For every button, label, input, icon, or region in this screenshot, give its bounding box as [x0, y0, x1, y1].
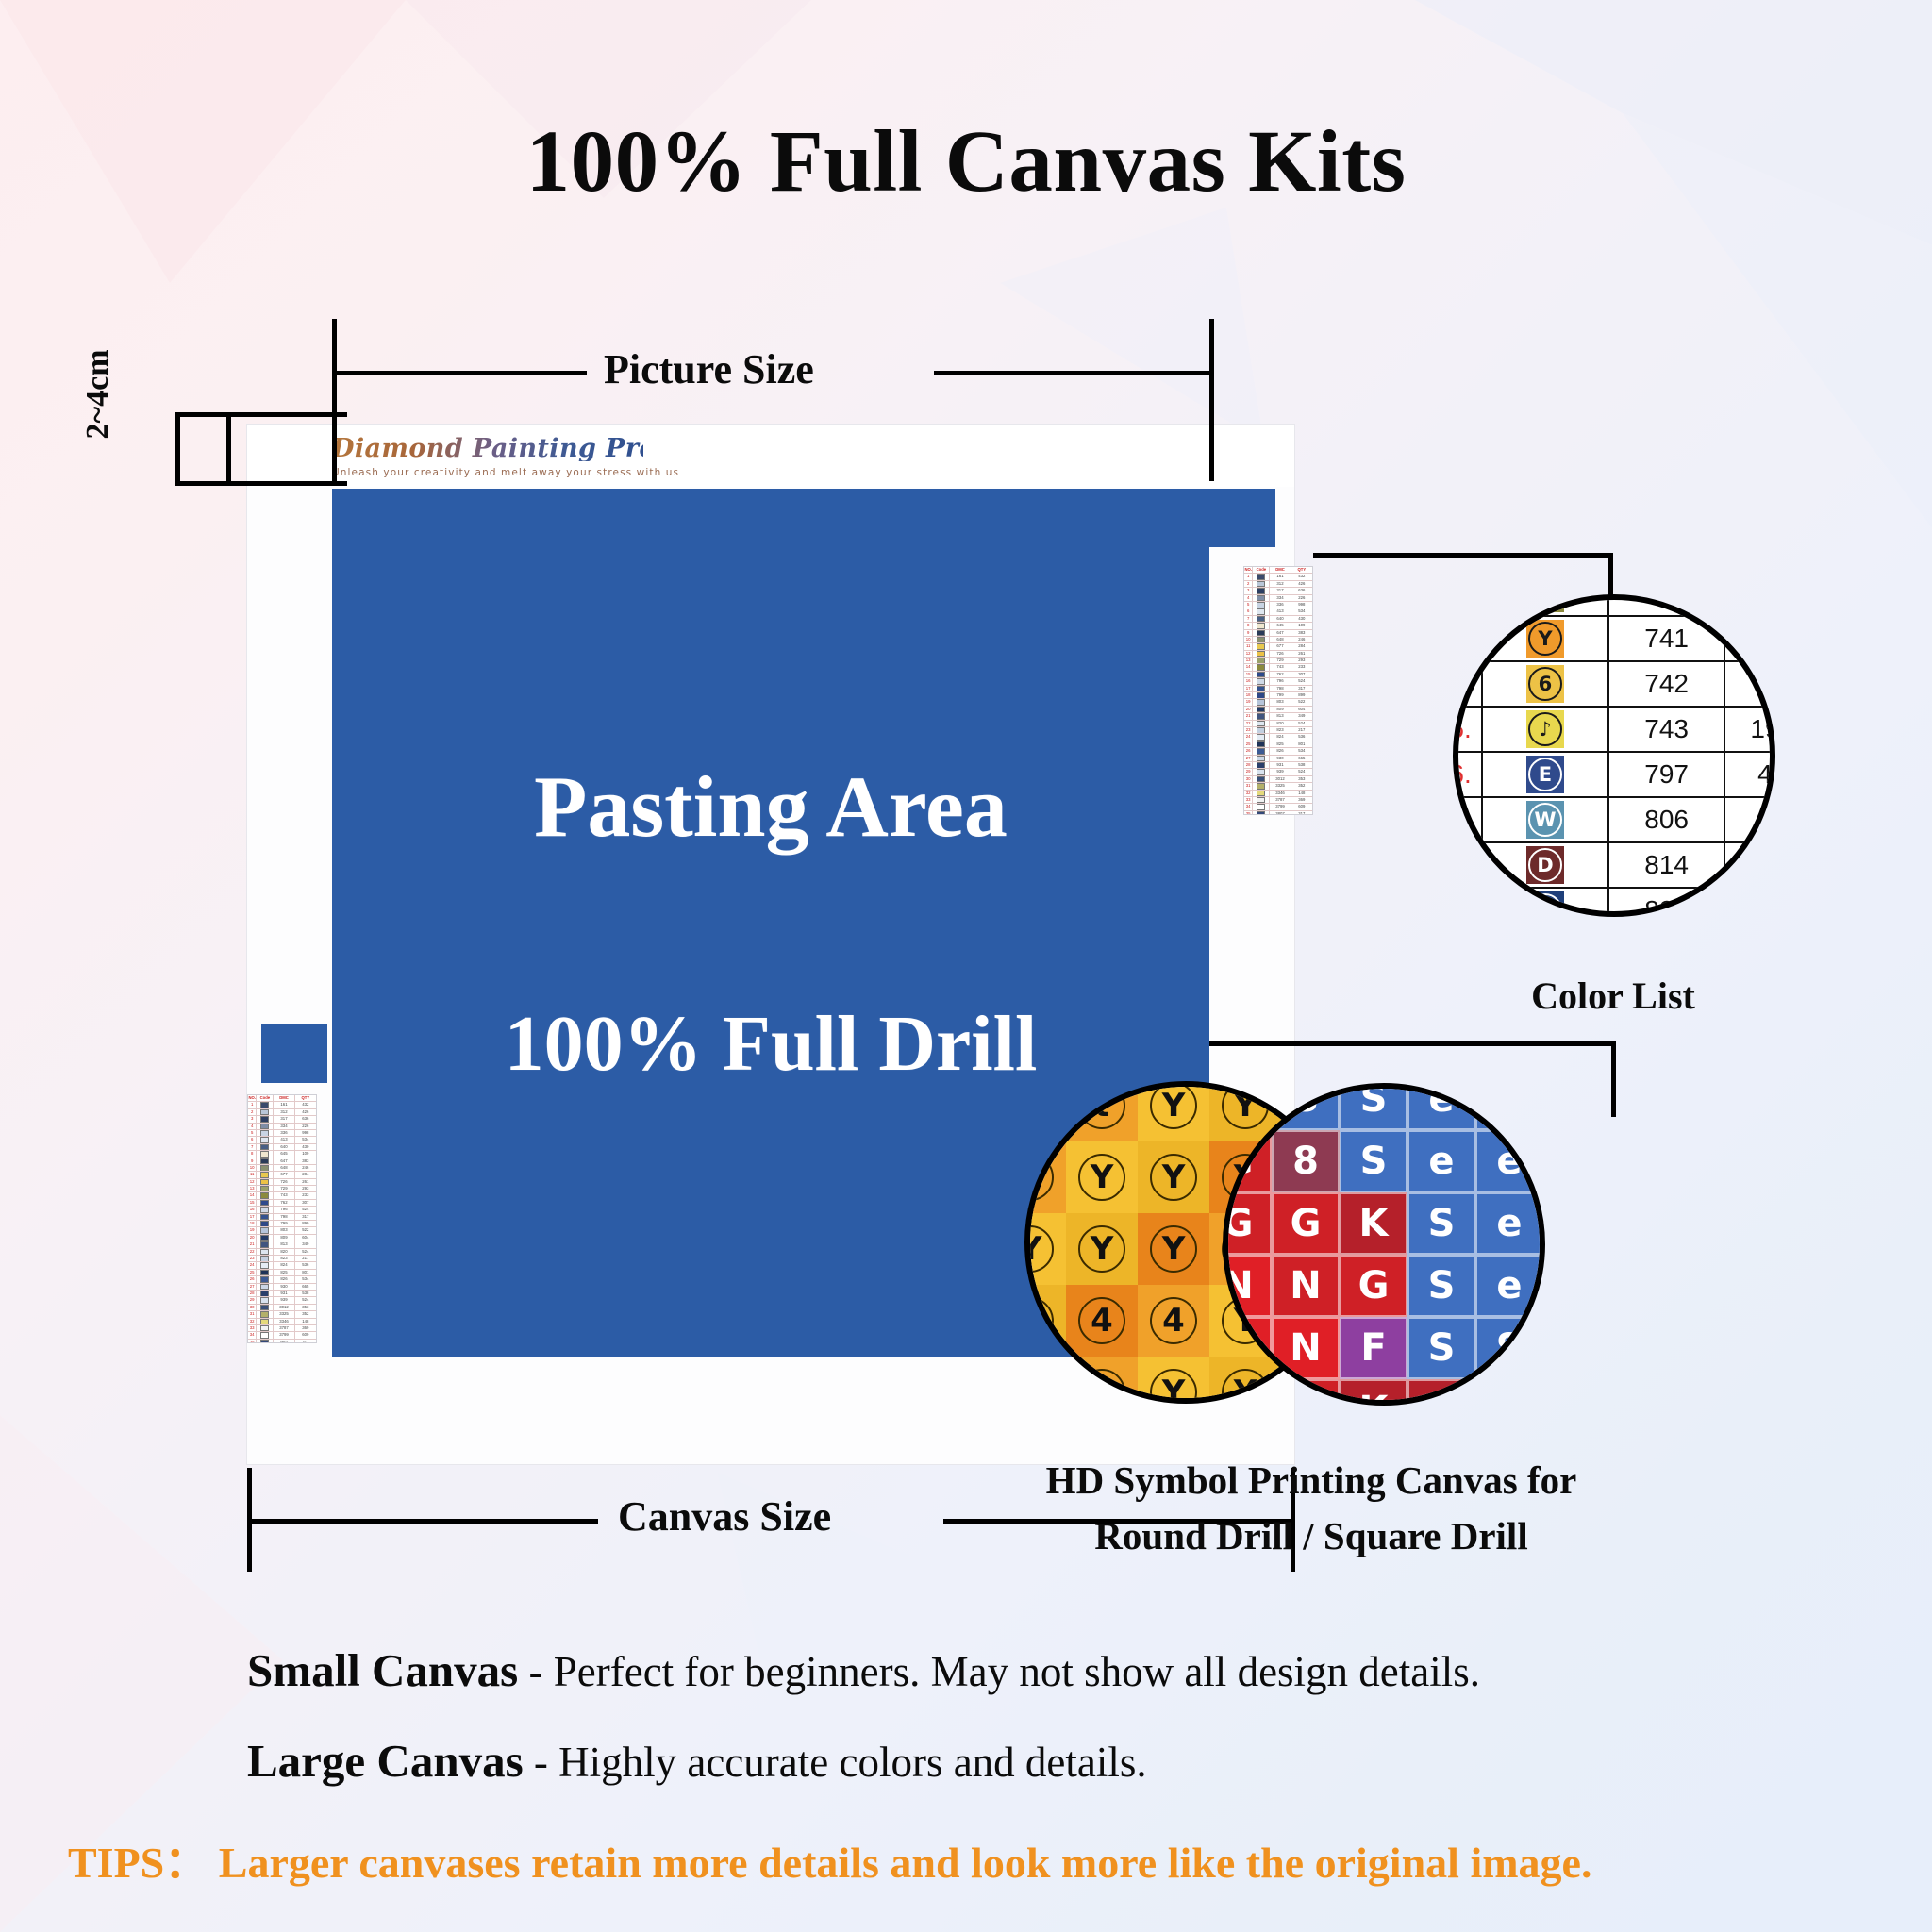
color-list-table: ★735Y741114.674224815.♪743192116.E797414… [1453, 594, 1775, 917]
strip-row: 8645109 [248, 1151, 316, 1158]
strip-row: 13729293 [248, 1186, 316, 1192]
picture-size-line-left [332, 371, 587, 375]
round-drill-cell: 4 [1066, 1357, 1138, 1404]
strip-cell-code [257, 1200, 274, 1206]
strip-cell-no: 34 [1244, 804, 1253, 809]
strip-header-dmc: DMC [274, 1095, 294, 1101]
color-list-row: 14.6742248 [1453, 662, 1775, 708]
strip-cell-dmc: 826 [1270, 748, 1291, 754]
strip-cell-qty: 636 [295, 1116, 316, 1122]
strip-cell-code [257, 1116, 274, 1122]
color-list-row: 18.D81440 [1453, 843, 1775, 889]
square-drill-cell: S [1407, 1255, 1475, 1317]
strip-row: 303012353 [248, 1305, 316, 1311]
strip-cell-no: 5 [248, 1130, 257, 1136]
strip-cell-code [1253, 623, 1270, 628]
strip-cell-qty: 349 [1291, 713, 1312, 719]
strip-cell-qty: 534 [1291, 608, 1312, 614]
strip-cell-code [1253, 699, 1270, 705]
strip-row: 6413534 [1244, 608, 1312, 615]
strip-cell-qty: 524 [1291, 769, 1312, 774]
square-drill-cell: 8 [1272, 1130, 1340, 1192]
strip-cell-no: 24 [1244, 734, 1253, 740]
strip-cell-code [1253, 686, 1270, 691]
strip-cell-code [1253, 637, 1270, 642]
color-list-row: a820 [1453, 889, 1775, 917]
round-drill-cell: Y [1024, 1285, 1066, 1357]
strip-cell-no: 8 [248, 1151, 257, 1157]
strip-cell-code [257, 1102, 274, 1108]
strip-cell-qty: 233 [295, 1192, 316, 1198]
strip-cell-dmc: 312 [274, 1109, 294, 1115]
strip-cell-dmc: 312 [1270, 581, 1291, 587]
strip-cell-no: 8 [1244, 623, 1253, 628]
strip-cell-no: 18 [1244, 692, 1253, 698]
strip-row: 19803522 [1244, 699, 1312, 706]
round-drill-cell: Y [1138, 1141, 1209, 1213]
square-drill-cell: e [1475, 1192, 1543, 1255]
strip-row: 12726261 [1244, 651, 1312, 658]
strip-cell-no: 4 [248, 1124, 257, 1129]
strip-cell-code [1253, 630, 1270, 636]
strip-cell-code [257, 1214, 274, 1220]
square-drill-cell: K [1407, 1379, 1475, 1406]
round-drill-cell: Y [1066, 1213, 1138, 1285]
strip-cell-no: 6 [1244, 608, 1253, 614]
strip-cell-code [257, 1256, 274, 1261]
strip-cell-qty: 261 [295, 1179, 316, 1185]
strip-cell-code [1253, 581, 1270, 587]
strip-row: 2312426 [248, 1109, 316, 1116]
strip-header-code: Code [257, 1095, 274, 1101]
strip-cell-no: 3 [248, 1116, 257, 1122]
strip-cell-qty: 538 [295, 1291, 316, 1296]
strip-cell-qty: 383 [1291, 630, 1312, 636]
strip-row: 8645109 [1244, 623, 1312, 629]
strip-cell-qty: 998 [1291, 602, 1312, 608]
strip-row: 313325352 [1244, 783, 1312, 790]
strip-cell-no: 21 [248, 1241, 257, 1247]
strip-cell-dmc: 334 [1270, 595, 1291, 601]
strip-cell-dmc: 931 [274, 1291, 294, 1296]
strip-cell-qty: 534 [295, 1276, 316, 1282]
strip-cell-no: 29 [1244, 769, 1253, 774]
strip-cell-code [1253, 721, 1270, 726]
picture-size-label: Picture Size [604, 345, 814, 393]
strip-cell-qty: 317 [1291, 811, 1312, 815]
infographic-stage: 100% Full Canvas Kits Diamond Painting P… [0, 0, 1932, 1932]
strip-cell-dmc: 799 [274, 1221, 294, 1226]
strip-header-dmc: DMC [1270, 567, 1291, 573]
strip-row: 26826534 [1244, 748, 1312, 755]
color-row-number [1453, 889, 1483, 917]
strip-cell-no: 32 [1244, 791, 1253, 796]
strip-cell-no: 35 [1244, 811, 1253, 815]
color-row-number: 15. [1453, 708, 1483, 751]
strip-cell-dmc: 3325 [274, 1311, 294, 1317]
picture-size-left-tick [332, 319, 337, 481]
strip-cell-code [257, 1221, 274, 1226]
square-drill-cell: e [1407, 1130, 1475, 1192]
strip-cell-no: 23 [248, 1256, 257, 1261]
strip-cell-qty: 534 [295, 1137, 316, 1142]
margin-line-bottom [175, 481, 347, 486]
color-list-row: 16.E797414 [1453, 753, 1775, 798]
strip-row: 29939524 [248, 1297, 316, 1304]
strip-cell-qty: 148 [295, 1319, 316, 1324]
strip-cell-dmc: 824 [1270, 734, 1291, 740]
square-drill-cell: F [1340, 1317, 1407, 1379]
square-drill-cell: G [1223, 1192, 1272, 1255]
strip-cell-code [257, 1192, 274, 1198]
strip-cell-dmc: 743 [1270, 664, 1291, 670]
strip-row: 10648246 [248, 1165, 316, 1172]
round-drill-cell: Y [1024, 1213, 1066, 1285]
strip-cell-code [257, 1158, 274, 1164]
round-drill-cell: t [1066, 1081, 1138, 1141]
square-drill-cell: K [1340, 1379, 1407, 1406]
round-drill-cell: 4 [1066, 1285, 1138, 1357]
color-list-row: Y7411 [1453, 617, 1775, 662]
square-drill-cell: K [1340, 1192, 1407, 1255]
strip-cell-dmc: 809 [274, 1235, 294, 1241]
strip-row: 1161432 [248, 1102, 316, 1108]
strip-row: 18799899 [1244, 692, 1312, 699]
strip-row: 4334226 [248, 1124, 316, 1130]
strip-row: 20809604 [1244, 707, 1312, 713]
strip-cell-code [1253, 658, 1270, 663]
strip-cell-code [257, 1325, 274, 1331]
strip-cell-code [1253, 672, 1270, 677]
square-drill-cell: e [1407, 1083, 1475, 1130]
strip-row: 6413534 [248, 1137, 316, 1143]
strip-cell-code [1253, 643, 1270, 649]
strip-cell-no: 22 [1244, 721, 1253, 726]
square-drill-cell: K [1475, 1379, 1543, 1406]
strip-row: 14743233 [1244, 664, 1312, 671]
picture-size-line-right [934, 371, 1209, 375]
square-drill-cell: G [1272, 1192, 1340, 1255]
color-row-qty [1725, 594, 1775, 615]
large-canvas-note: Large Canvas - Highly accurate colors an… [247, 1734, 1147, 1788]
square-drill-cell: N [1223, 1317, 1272, 1379]
strip-cell-no: 15 [248, 1200, 257, 1206]
strip-cell-qty: 524 [295, 1207, 316, 1212]
strip-cell-qty: 217 [295, 1256, 316, 1261]
strip-cell-qty: 317 [295, 1340, 316, 1343]
strip-cell-no: 18 [248, 1221, 257, 1226]
strip-cell-code [1253, 707, 1270, 712]
strip-row: 21813349 [1244, 713, 1312, 720]
strip-row: 323346148 [1244, 791, 1312, 797]
strip-row: 20809604 [248, 1235, 316, 1241]
strip-header-qty: QTY [1291, 567, 1312, 573]
round-drill-cell: Y [1024, 1081, 1066, 1141]
strip-row: 3317636 [248, 1116, 316, 1123]
strip-cell-no: 6 [248, 1137, 257, 1142]
strip-cell-dmc: 161 [274, 1102, 294, 1108]
color-row-qty: 414 [1725, 753, 1775, 796]
strip-cell-no: 2 [248, 1109, 257, 1115]
strip-cell-no: 14 [248, 1192, 257, 1198]
strip-cell-no: 10 [1244, 637, 1253, 642]
square-drill-cell: N [1223, 1255, 1272, 1317]
color-row-number [1453, 594, 1483, 615]
strip-cell-code [1253, 748, 1270, 754]
strip-cell-code [257, 1109, 274, 1115]
strip-cell-dmc: 762 [274, 1200, 294, 1206]
strip-cell-qty: 349 [295, 1241, 316, 1247]
strip-cell-qty: 430 [295, 1144, 316, 1150]
strip-cell-no: 15 [1244, 672, 1253, 677]
strip-cell-no: 17 [248, 1214, 257, 1220]
strip-cell-no: 27 [248, 1284, 257, 1290]
strip-cell-qty: 233 [1291, 664, 1312, 670]
strip-cell-no: 11 [248, 1172, 257, 1177]
strip-cell-qty: 524 [295, 1297, 316, 1303]
small-canvas-text: - Perfect for beginners. May not show al… [518, 1648, 1480, 1695]
strip-cell-code [257, 1124, 274, 1129]
strip-cell-code [1253, 756, 1270, 761]
color-row-number: 18. [1453, 843, 1483, 887]
strip-row: 3317636 [1244, 588, 1312, 594]
strip-header-row: NO.CodeDMCQTY [248, 1095, 316, 1102]
strip-cell-no: 24 [248, 1262, 257, 1268]
strip-cell-code [1253, 608, 1270, 614]
strip-cell-no: 25 [248, 1270, 257, 1275]
strip-cell-qty: 293 [295, 1186, 316, 1191]
strip-cell-qty: 226 [1291, 595, 1312, 601]
strip-cell-qty: 317 [295, 1214, 316, 1220]
strip-cell-code [1253, 797, 1270, 803]
strip-cell-dmc: 3807 [1270, 811, 1291, 815]
strip-row: 21813349 [248, 1241, 316, 1248]
strip-cell-qty: 534 [1291, 748, 1312, 754]
strip-cell-code [257, 1130, 274, 1136]
strip-cell-dmc: 3325 [1270, 783, 1291, 789]
strip-cell-qty: 369 [295, 1325, 316, 1331]
strip-header-no: NO. [1244, 567, 1253, 573]
color-row-qty: 204 [1725, 798, 1775, 841]
strip-cell-no: 30 [248, 1305, 257, 1310]
small-canvas-label: Small Canvas [247, 1644, 518, 1696]
strip-cell-dmc: 930 [274, 1284, 294, 1290]
color-row-number: 17. [1453, 798, 1483, 841]
strip-cell-qty: 284 [295, 1172, 316, 1177]
color-list-row: ★735 [1453, 594, 1775, 617]
strip-cell-dmc: 803 [1270, 699, 1291, 705]
strip-cell-no: 4 [1244, 595, 1253, 601]
strip-cell-code [1253, 595, 1270, 601]
strip-cell-no: 19 [248, 1227, 257, 1233]
strip-cell-dmc: 931 [1270, 762, 1291, 768]
strip-cell-dmc: 413 [274, 1137, 294, 1142]
strip-cell-dmc: 825 [1270, 741, 1291, 747]
strip-row: 323346148 [248, 1319, 316, 1325]
strip-cell-no: 20 [1244, 707, 1253, 712]
square-drill-cell: S [1407, 1317, 1475, 1379]
margin-line-top [175, 412, 347, 417]
strip-cell-dmc: 803 [274, 1227, 294, 1233]
strip-row: 5336998 [248, 1130, 316, 1137]
strip-cell-code [257, 1151, 274, 1157]
square-drill-cell: N [1272, 1255, 1340, 1317]
strip-cell-dmc: 3787 [1270, 797, 1291, 803]
strip-row: 9647383 [248, 1158, 316, 1165]
strip-row: 22820524 [1244, 721, 1312, 727]
strip-cell-dmc: 3012 [1270, 776, 1291, 782]
color-row-symbol: 6 [1483, 662, 1610, 706]
strip-cell-no: 26 [1244, 748, 1253, 754]
strip-cell-code [257, 1165, 274, 1171]
strip-cell-qty: 801 [1291, 741, 1312, 747]
strip-cell-code [257, 1235, 274, 1241]
strip-cell-dmc: 317 [274, 1116, 294, 1122]
strip-cell-code [257, 1311, 274, 1317]
color-row-qty: 40 [1725, 843, 1775, 887]
strip-row: 353807317 [248, 1340, 316, 1343]
strip-cell-dmc: 645 [1270, 623, 1291, 628]
strip-cell-dmc: 317 [1270, 588, 1291, 593]
strip-cell-dmc: 3787 [274, 1325, 294, 1331]
brand-logo: Diamond Painting Pro Unleash your creati… [332, 436, 643, 485]
strip-cell-dmc: 809 [1270, 707, 1291, 712]
strip-cell-dmc: 799 [1270, 692, 1291, 698]
strip-cell-qty: 899 [295, 1221, 316, 1226]
strip-cell-code [1253, 616, 1270, 622]
strip-cell-qty: 353 [1291, 776, 1312, 782]
strip-cell-dmc: 647 [274, 1158, 294, 1164]
strip-row: 28931538 [248, 1291, 316, 1297]
strip-cell-dmc: 648 [1270, 637, 1291, 642]
color-row-symbol: a [1483, 889, 1610, 917]
strip-cell-no: 33 [1244, 797, 1253, 803]
strip-row: 23823217 [1244, 727, 1312, 734]
hd-caption-line1: HD Symbol Printing Canvas for [1000, 1453, 1623, 1508]
strip-cell-no: 31 [248, 1311, 257, 1317]
strip-cell-qty: 524 [1291, 678, 1312, 684]
strip-cell-code [1253, 727, 1270, 733]
color-row-dmc: 820 [1609, 889, 1725, 917]
strip-cell-qty: 284 [1291, 643, 1312, 649]
margin-tick-outer [175, 412, 180, 486]
strip-row: 19803522 [248, 1227, 316, 1234]
large-canvas-text: - Highly accurate colors and details. [524, 1739, 1147, 1786]
strip-cell-no: 1 [248, 1102, 257, 1108]
strip-row: 27930665 [248, 1284, 316, 1291]
strip-cell-code [257, 1144, 274, 1150]
strip-cell-no: 11 [1244, 643, 1253, 649]
strip-cell-no: 33 [248, 1325, 257, 1331]
brand-name: Diamond Painting Pro [332, 436, 643, 461]
strip-cell-code [1253, 734, 1270, 740]
strip-cell-dmc: 726 [274, 1179, 294, 1185]
hd-caption-line2: Round Drill / Square Drill [1000, 1508, 1623, 1564]
color-row-symbol: E [1483, 753, 1610, 796]
strip-cell-qty: 665 [1291, 756, 1312, 761]
strip-cell-no: 22 [248, 1249, 257, 1255]
strip-cell-qty: 293 [1291, 658, 1312, 663]
strip-cell-dmc: 825 [274, 1270, 294, 1275]
strip-cell-qty: 998 [295, 1130, 316, 1136]
strip-cell-qty: 604 [1291, 707, 1312, 712]
strip-cell-qty: 538 [1291, 762, 1312, 768]
color-row-number: 14. [1453, 662, 1483, 706]
strip-cell-dmc: 336 [274, 1130, 294, 1136]
strip-header-no: NO. [248, 1095, 257, 1101]
strip-cell-dmc: 640 [274, 1144, 294, 1150]
strip-cell-code [1253, 804, 1270, 809]
strip-cell-no: 16 [1244, 678, 1253, 684]
strip-cell-dmc: 729 [1270, 658, 1291, 663]
leader-drill-vertical [1611, 1041, 1616, 1117]
strip-cell-dmc: 413 [1270, 608, 1291, 614]
strip-cell-no: 28 [248, 1291, 257, 1296]
strip-cell-no: 23 [1244, 727, 1253, 733]
square-drill-grid: GSSeeG8SeeGGKSeNNGSeNNFSSNNKKK [1223, 1083, 1543, 1406]
pasting-area-title: Pasting Area [534, 757, 1008, 857]
round-drill-cell: Y [1138, 1081, 1209, 1141]
strip-cell-no: 5 [1244, 602, 1253, 608]
strip-cell-dmc: 645 [274, 1151, 294, 1157]
strip-cell-dmc: 930 [1270, 756, 1291, 761]
strip-cell-no: 17 [1244, 686, 1253, 691]
strip-row: 4334226 [1244, 595, 1312, 602]
strip-cell-dmc: 798 [1270, 686, 1291, 691]
full-drill-label: 100% Full Drill [505, 998, 1038, 1090]
strip-cell-no: 29 [248, 1297, 257, 1303]
strip-cell-code [1253, 651, 1270, 657]
square-drill-magnifier: GSSeeG8SeeGGKSeNNGSeNNFSSNNKKK [1223, 1083, 1545, 1406]
color-row-dmc: 743 [1609, 708, 1725, 751]
round-drill-cell: t [1024, 1141, 1066, 1213]
strip-cell-no: 9 [1244, 630, 1253, 636]
strip-cell-code [257, 1319, 274, 1324]
hd-symbol-caption: HD Symbol Printing Canvas for Round Dril… [1000, 1453, 1623, 1565]
strip-row: 29939524 [1244, 769, 1312, 775]
color-row-qty: 1921 [1725, 708, 1775, 751]
strip-cell-qty: 109 [1291, 623, 1312, 628]
strip-cell-no: 13 [248, 1186, 257, 1191]
canvas-size-line-left [247, 1519, 598, 1524]
margin-label: 2~4cm [80, 349, 116, 439]
strip-cell-qty: 609 [1291, 804, 1312, 809]
square-drill-cell: e [1475, 1130, 1543, 1192]
strip-cell-dmc: 796 [274, 1207, 294, 1212]
large-canvas-label: Large Canvas [247, 1735, 524, 1787]
margin-tick-inner [226, 412, 231, 486]
strip-cell-no: 26 [248, 1276, 257, 1282]
color-list-magnifier: ★735Y741114.674224815.♪743192116.E797414… [1453, 594, 1775, 917]
square-drill-cell: S [1407, 1192, 1475, 1255]
strip-cell-code [257, 1297, 274, 1303]
strip-cell-no: 35 [248, 1340, 257, 1343]
strip-row: 28931538 [1244, 762, 1312, 769]
strip-cell-qty: 524 [1291, 721, 1312, 726]
strip-cell-qty: 430 [1291, 616, 1312, 622]
color-list-row: 17.W806204 [1453, 798, 1775, 843]
strip-cell-code [257, 1270, 274, 1275]
strip-cell-code [257, 1262, 274, 1268]
square-drill-cell: S [1272, 1083, 1340, 1130]
strip-cell-dmc: 826 [274, 1276, 294, 1282]
strip-cell-qty: 369 [1291, 797, 1312, 803]
strip-cell-code [257, 1186, 274, 1191]
strip-cell-code [257, 1249, 274, 1255]
strip-cell-dmc: 640 [1270, 616, 1291, 622]
strip-cell-code [257, 1332, 274, 1338]
color-row-symbol: ♪ [1483, 708, 1610, 751]
